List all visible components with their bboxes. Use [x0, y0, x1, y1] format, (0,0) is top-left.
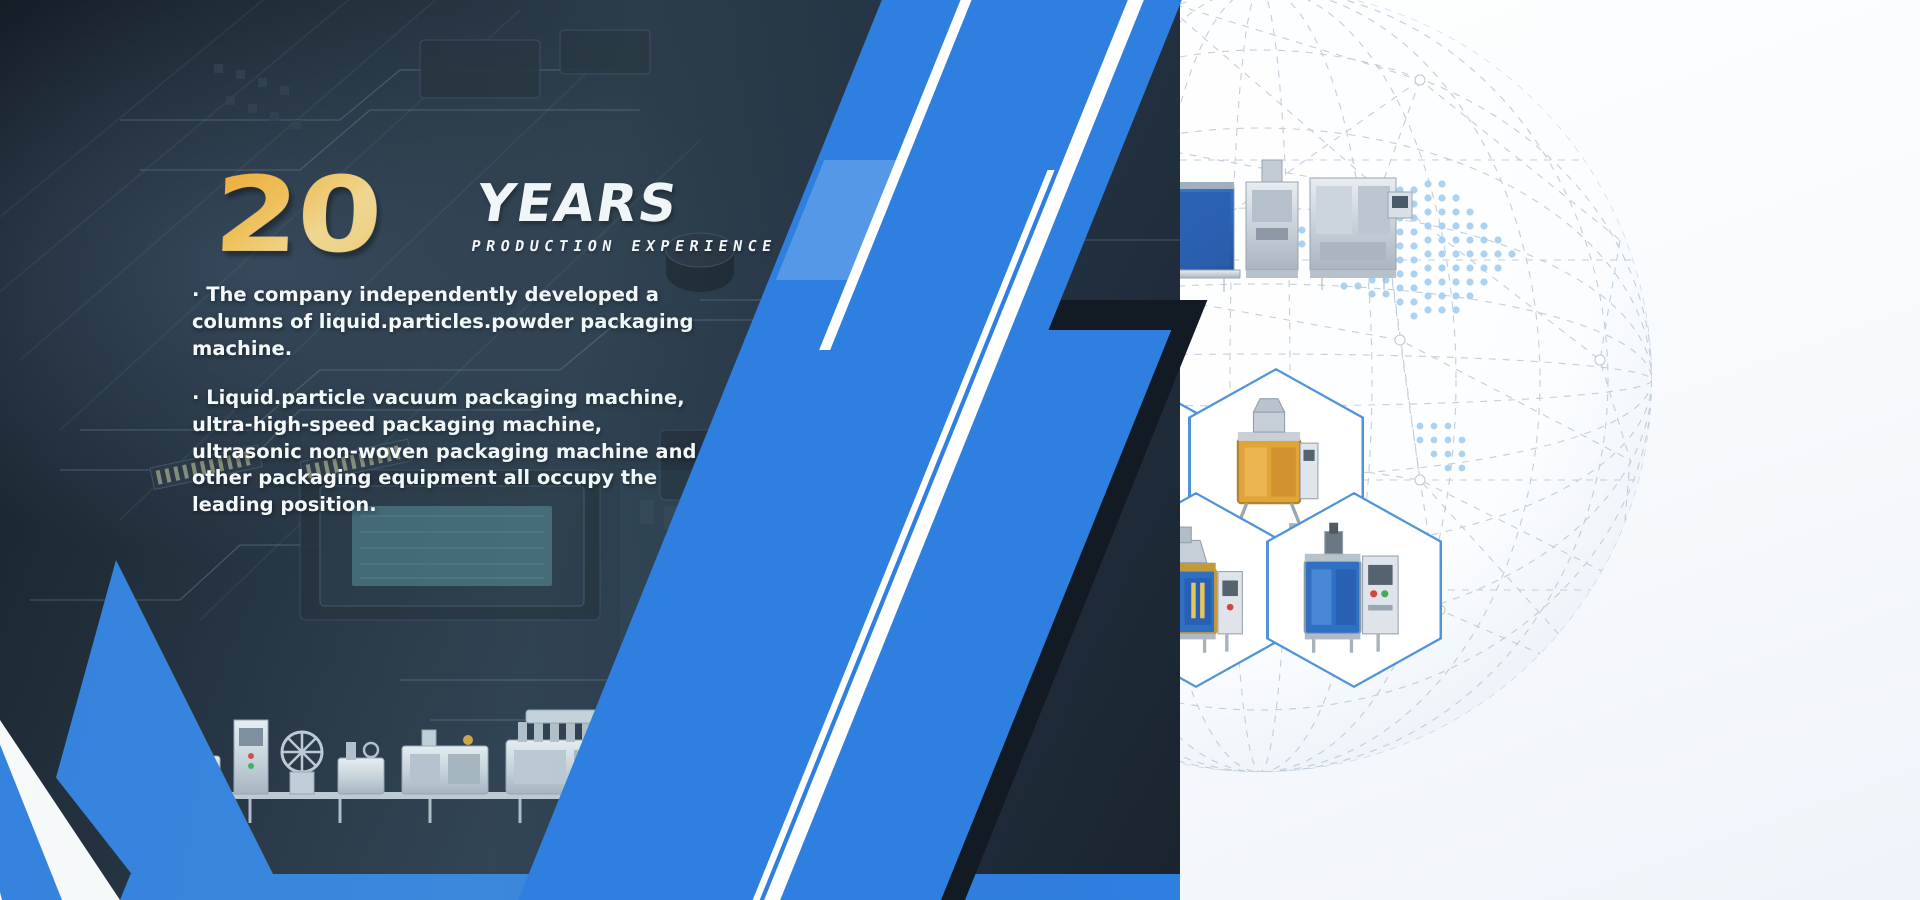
hexagon-machine-4[interactable]: [1266, 492, 1442, 688]
paragraph-1: · The company independently developed a …: [192, 282, 712, 363]
years-number: 20: [212, 168, 382, 264]
headline-block: 20 YEARS PRODUCTION EXPERIENCE: [214, 168, 778, 264]
promo-banner: 20 YEARS PRODUCTION EXPERIENCE · The com…: [0, 0, 1920, 900]
body-copy: · The company independently developed a …: [192, 282, 712, 541]
production-experience-subtitle: PRODUCTION EXPERIENCE: [470, 237, 778, 255]
paragraph-2: · Liquid.particle vacuum packaging machi…: [192, 385, 712, 520]
hexagon-inner: [1269, 495, 1440, 686]
years-word: YEARS: [473, 178, 786, 230]
